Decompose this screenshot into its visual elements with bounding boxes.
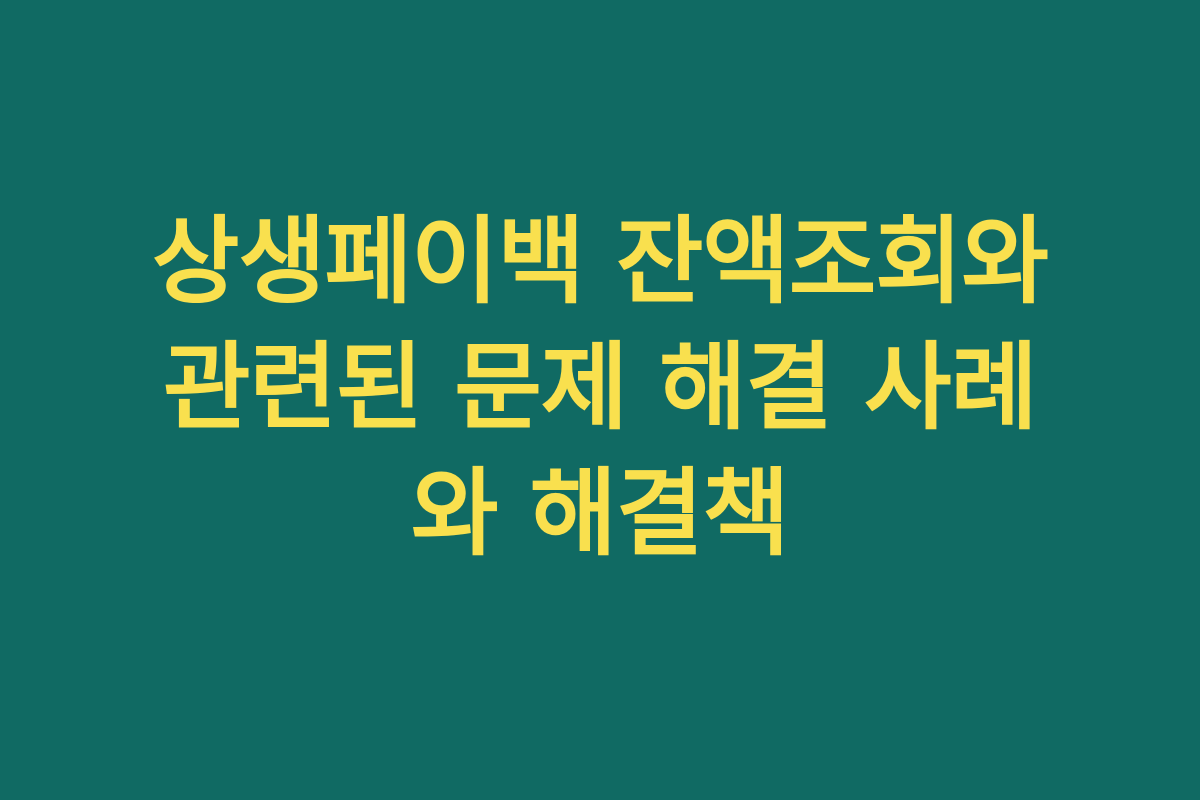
- title-line-3: 와 해결책: [70, 451, 1130, 577]
- title-line-2: 관련된 문제 해결 사례: [70, 325, 1130, 451]
- page-title: 상생페이백 잔액조회와 관련된 문제 해결 사례 와 해결책: [70, 199, 1130, 577]
- title-banner: 상생페이백 잔액조회와 관련된 문제 해결 사례 와 해결책: [0, 0, 1200, 800]
- title-line-1: 상생페이백 잔액조회와: [70, 199, 1130, 325]
